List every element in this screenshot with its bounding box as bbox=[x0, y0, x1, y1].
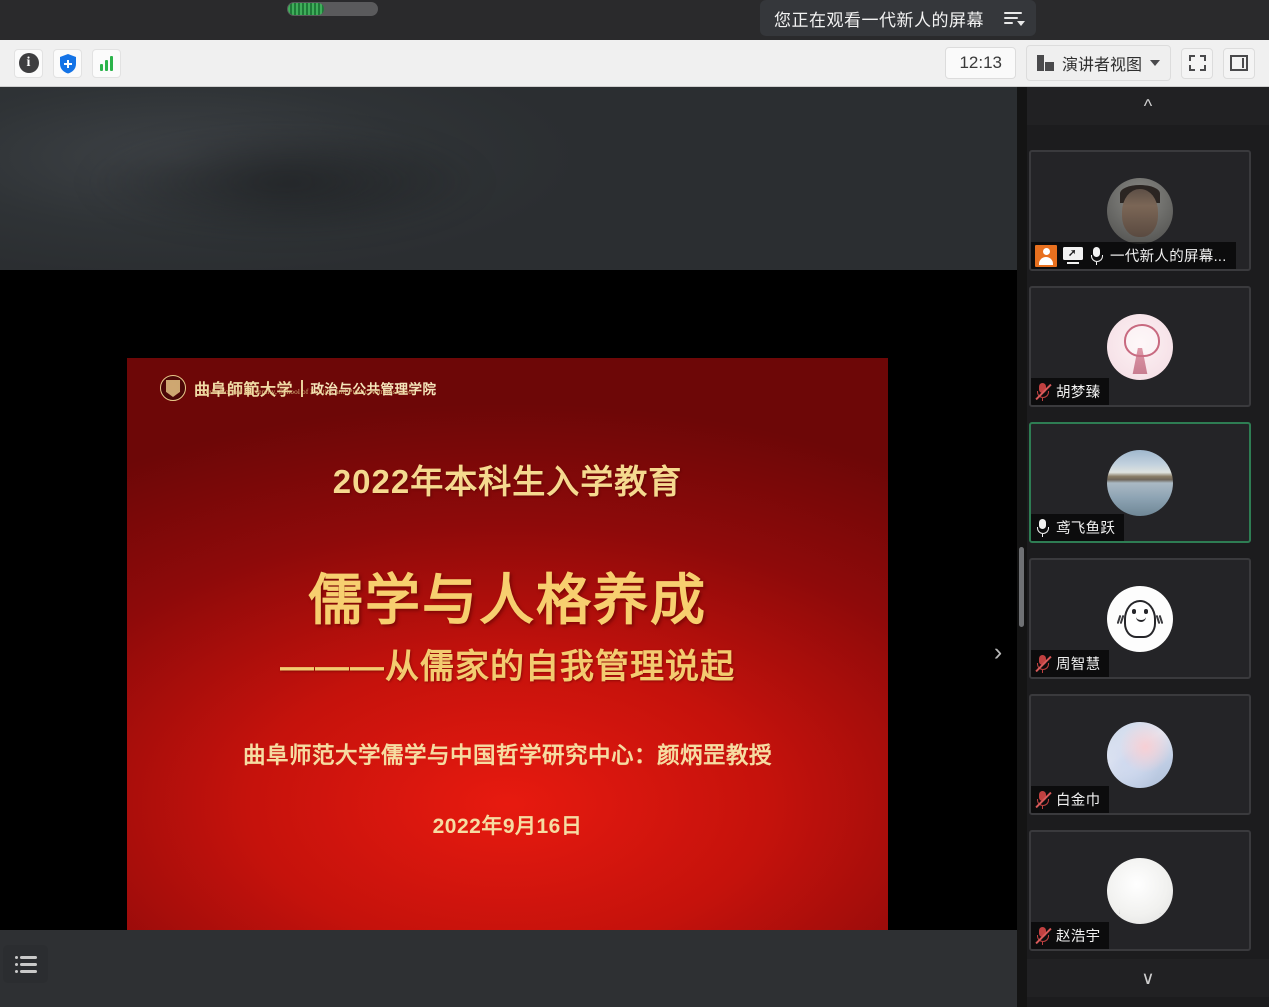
avatar bbox=[1107, 858, 1173, 924]
participant-namebar: ➚ 一代新人的屏幕... bbox=[1031, 242, 1236, 269]
participant-tile-host[interactable]: ➚ 一代新人的屏幕... bbox=[1029, 150, 1251, 271]
participant-tile-active-speaker[interactable]: 鸢飞鱼跃 bbox=[1029, 422, 1251, 543]
toolbar-left-group: i bbox=[0, 49, 121, 78]
microphone-unmuted-icon bbox=[1089, 246, 1104, 266]
split-view-icon[interactable] bbox=[1223, 48, 1255, 79]
meeting-timer: 12:13 bbox=[945, 47, 1016, 79]
avatar-anime-lineart bbox=[1107, 314, 1173, 380]
host-person-icon bbox=[1035, 245, 1057, 267]
shield-svg bbox=[58, 53, 78, 74]
slide-line-5: 2022年9月16日 bbox=[433, 810, 583, 840]
microphone-muted-icon bbox=[1035, 790, 1050, 810]
watching-screen-banner: 您正在观看一代新人的屏幕 bbox=[760, 0, 1036, 36]
avatar bbox=[1107, 314, 1173, 380]
watching-screen-label: 您正在观看一代新人的屏幕 bbox=[774, 6, 984, 31]
participant-namebar: 赵浩宇 bbox=[1031, 922, 1109, 949]
split-view-glyph bbox=[1230, 55, 1248, 71]
chevron-down-icon[interactable]: ∨ bbox=[1027, 959, 1269, 997]
list-view-icon[interactable] bbox=[3, 945, 48, 983]
network-bars bbox=[100, 55, 113, 71]
participant-tile[interactable]: 赵浩宇 bbox=[1029, 830, 1251, 951]
connection-strength-indicator bbox=[287, 2, 378, 16]
view-mode-label: 演讲者视图 bbox=[1062, 51, 1142, 75]
presentation-slide: 曲阜師範大学 政治与公共管理学院 Qufu Normal university,… bbox=[127, 358, 888, 930]
network-stats-icon[interactable] bbox=[92, 49, 121, 78]
hamburger-menu-icon[interactable] bbox=[996, 2, 1030, 34]
participant-filmstrip: ^ ➚ 一代新人的屏幕... bbox=[1027, 87, 1269, 1007]
participant-tiles: ➚ 一代新人的屏幕... 胡梦臻 bbox=[1027, 147, 1269, 977]
avatar-photo-portrait bbox=[1107, 178, 1173, 244]
avatar bbox=[1107, 586, 1173, 652]
participant-tile[interactable]: 白金巾 bbox=[1029, 694, 1251, 815]
slide-text-block: 2022年本科生入学教育 儒学与人格养成 ———从儒家的自我管理说起 曲阜师范大… bbox=[127, 358, 888, 930]
speaker-view-icon bbox=[1037, 55, 1054, 71]
participant-tile[interactable]: 周智慧 bbox=[1029, 558, 1251, 679]
meeting-window: 您正在观看一代新人的屏幕 i 12:13 bbox=[0, 0, 1269, 1007]
slide-letterbox: 曲阜師範大学 政治与公共管理学院 Qufu Normal university,… bbox=[0, 270, 1017, 930]
microphone-muted-icon bbox=[1035, 382, 1050, 402]
participant-name: 赵浩宇 bbox=[1056, 925, 1100, 946]
microphone-muted-icon bbox=[1035, 926, 1050, 946]
avatar bbox=[1107, 450, 1173, 516]
slide-line-1: 2022年本科生入学教育 bbox=[333, 455, 682, 503]
participant-name: 白金巾 bbox=[1056, 789, 1100, 810]
info-icon-glyph: i bbox=[19, 53, 39, 73]
participant-namebar: 胡梦臻 bbox=[1031, 378, 1109, 405]
blurred-desktop-region bbox=[0, 87, 1017, 270]
avatar bbox=[1107, 178, 1173, 244]
avatar-lake-landscape bbox=[1107, 450, 1173, 516]
top-floating-strip: 您正在观看一代新人的屏幕 bbox=[0, 0, 1269, 40]
info-icon[interactable]: i bbox=[14, 49, 43, 78]
participant-name: 周智慧 bbox=[1056, 653, 1100, 674]
stage-bottom-bar bbox=[0, 930, 1017, 1007]
toolbar-right-group: 12:13 演讲者视图 bbox=[945, 45, 1269, 81]
shared-screen-stage[interactable]: 曲阜師範大学 政治与公共管理学院 Qufu Normal university,… bbox=[0, 87, 1017, 1007]
panel-scroll-handle[interactable] bbox=[1019, 547, 1024, 627]
participant-namebar: 白金巾 bbox=[1031, 786, 1109, 813]
chevron-down-icon bbox=[1150, 60, 1160, 66]
avatar-white-sketch bbox=[1107, 858, 1173, 924]
fullscreen-icon[interactable] bbox=[1181, 48, 1213, 79]
microphone-muted-icon bbox=[1035, 654, 1050, 674]
microphone-unmuted-icon bbox=[1035, 518, 1050, 538]
avatar-pastel-anime bbox=[1107, 722, 1173, 788]
meeting-toolbar: i 12:13 演讲者视图 bbox=[0, 40, 1269, 87]
slide-line-4: 曲阜师范大学儒学与中国哲学研究中心：颜炳罡教授 bbox=[243, 738, 772, 770]
connection-strength-fill bbox=[288, 3, 324, 15]
view-mode-dropdown[interactable]: 演讲者视图 bbox=[1026, 45, 1171, 81]
panel-divider bbox=[1017, 87, 1027, 1007]
chevron-right-icon[interactable]: › bbox=[988, 638, 1008, 666]
participant-namebar: 周智慧 bbox=[1031, 650, 1109, 677]
participant-name: 一代新人的屏幕... bbox=[1110, 245, 1227, 266]
participant-name: 鸢飞鱼跃 bbox=[1056, 517, 1115, 538]
slide-line-2: 儒学与人格养成 bbox=[308, 555, 707, 635]
avatar bbox=[1107, 722, 1173, 788]
security-shield-icon[interactable] bbox=[53, 49, 82, 78]
participant-namebar: 鸢飞鱼跃 bbox=[1031, 514, 1124, 541]
list-glyph bbox=[15, 956, 37, 973]
participant-name: 胡梦臻 bbox=[1056, 381, 1100, 402]
participant-tile[interactable]: 胡梦臻 bbox=[1029, 286, 1251, 407]
slide-line-3: ———从儒家的自我管理说起 bbox=[280, 639, 735, 688]
fullscreen-glyph bbox=[1189, 55, 1206, 71]
chevron-up-icon[interactable]: ^ bbox=[1027, 87, 1269, 125]
avatar-ghost-doodle bbox=[1107, 586, 1173, 652]
screen-share-icon: ➚ bbox=[1063, 247, 1083, 264]
